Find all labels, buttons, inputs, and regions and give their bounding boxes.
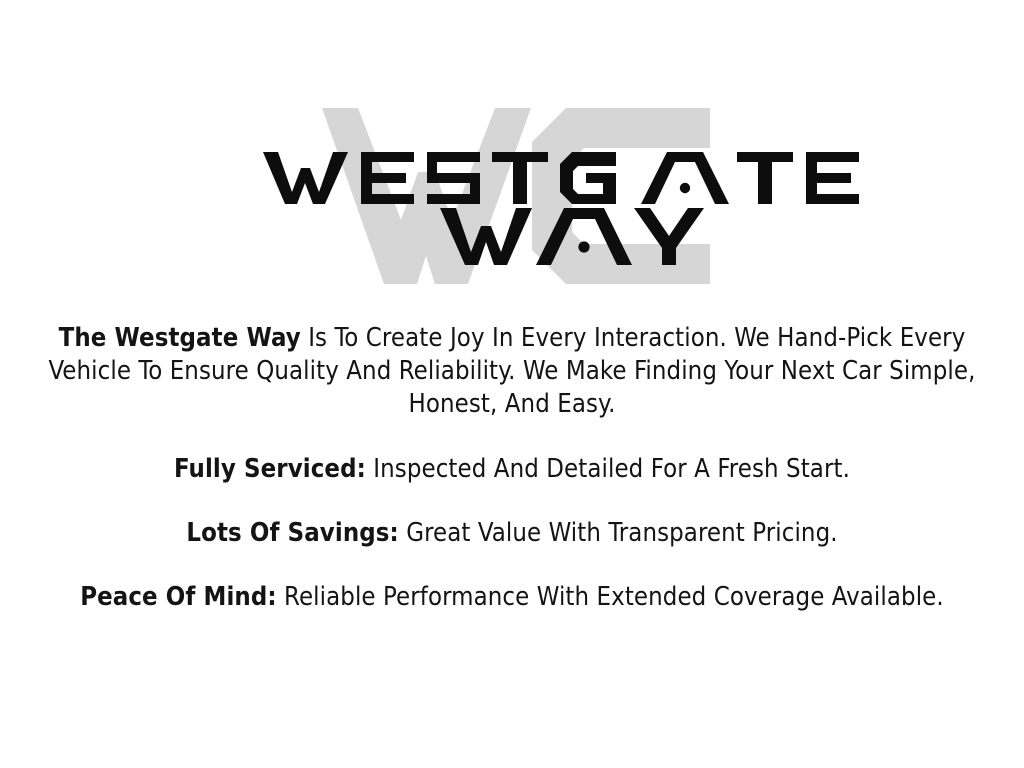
intro-lead: The Westgate Way — [59, 323, 301, 353]
feature-fully-serviced: Fully Serviced: Inspected And Detailed F… — [32, 453, 992, 486]
intro-paragraph: The Westgate Way Is To Create Joy In Eve… — [32, 322, 992, 421]
spacer — [32, 486, 992, 517]
promo-slide: The Westgate Way Is To Create Joy In Eve… — [0, 0, 1024, 768]
feature-text: Reliable Performance With Extended Cover… — [277, 582, 944, 612]
feature-lots-of-savings: Lots Of Savings: Great Value With Transp… — [32, 517, 992, 550]
body-copy: The Westgate Way Is To Create Joy In Eve… — [32, 322, 992, 614]
feature-lead: Fully Serviced: — [174, 454, 366, 484]
feature-text: Great Value With Transparent Pricing. — [399, 518, 838, 548]
feature-text: Inspected And Detailed For A Fresh Start… — [366, 454, 850, 484]
feature-peace-of-mind: Peace Of Mind: Reliable Performance With… — [32, 581, 992, 614]
feature-lead: Lots Of Savings: — [186, 518, 398, 548]
spacer — [32, 550, 992, 581]
feature-lead: Peace Of Mind: — [80, 582, 276, 612]
westgate-way-wordmark — [0, 100, 1024, 290]
brand-logo-lockup — [0, 100, 1024, 290]
spacer — [32, 421, 992, 453]
